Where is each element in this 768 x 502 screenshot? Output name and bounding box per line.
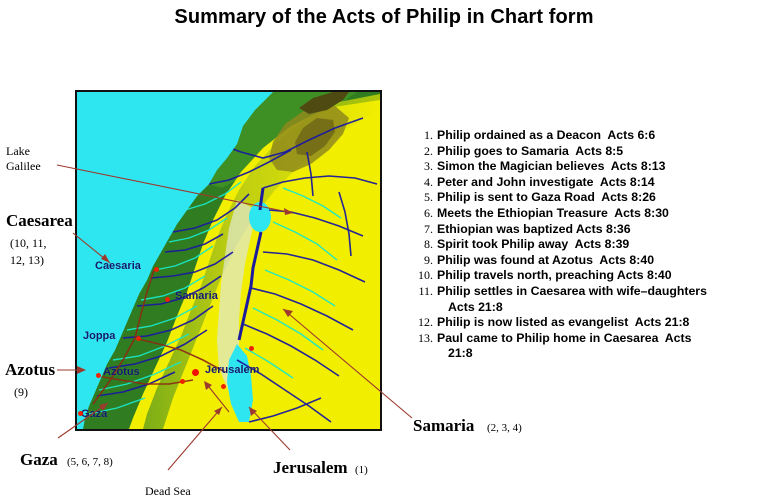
caesarea-dot (154, 267, 159, 272)
annotation-caesarea-refs2: 12, 13) (10, 253, 44, 268)
list-item-text: Simon the Magician believes Acts 8:13 (437, 159, 665, 175)
list-item: 4.Peter and John investigate Acts 8:14 (412, 175, 762, 191)
annotation-caesarea-refs: (10, 11, (10, 236, 47, 251)
annotation-azotus-refs: (9) (14, 385, 28, 400)
map-label-samaria: Samaria (175, 290, 218, 302)
annotation-caesarea-name: Caesarea (6, 211, 73, 231)
list-item: 8.Spirit took Philip away Acts 8:39 (412, 237, 762, 253)
list-item: 1.Philip ordained as a Deacon Acts 6:6 (412, 128, 762, 144)
list-item: 3.Simon the Magician believes Acts 8:13 (412, 159, 762, 175)
list-item-text: Meets the Ethiopian Treasure Acts 8:30 (437, 206, 669, 222)
list-item-text: Ethiopian was baptized Acts 8:36 (437, 222, 631, 238)
list-item-number: 6. (412, 206, 437, 222)
list-item: 12.Philip is now listed as evangelist Ac… (412, 315, 762, 331)
jerusalem-dot (192, 369, 199, 376)
unnamed-city-dot-2 (180, 379, 185, 384)
joppa-dot (136, 336, 141, 341)
list-item-number: 7. (412, 222, 437, 238)
list-item-continuation: Acts 21:8 (412, 300, 762, 316)
list-item-text: Spirit took Philip away Acts 8:39 (437, 237, 629, 253)
list-item-text: Philip was found at Azotus Acts 8:40 (437, 253, 654, 269)
map-figure: Caesaria Joppa Azotus Gaza Samaria Jerus… (75, 90, 382, 431)
annotation-dead-sea-name: Dead Sea (145, 484, 191, 499)
list-item-text: Philip ordained as a Deacon Acts 6:6 (437, 128, 655, 144)
list-item-text: Philip travels north, preaching Acts 8:4… (437, 268, 672, 284)
list-item-text: Peter and John investigate Acts 8:14 (437, 175, 655, 191)
list-item-text: Philip goes to Samaria Acts 8:5 (437, 144, 623, 160)
annotation-jerusalem-name: Jerusalem (273, 458, 348, 478)
annotation-jerusalem-refs: (1) (355, 464, 368, 476)
list-item-number: 2. (412, 144, 437, 160)
list-item-text: Philip settles in Caesarea with wife–dau… (437, 284, 707, 300)
list-item: 6.Meets the Ethiopian Treasure Acts 8:30 (412, 206, 762, 222)
map-label-gaza: Gaza (81, 408, 107, 420)
list-item-continuation: 21:8 (412, 346, 762, 362)
unnamed-city-dot-3 (221, 384, 226, 389)
map-label-jerusalem: Jerusalem (205, 364, 259, 376)
gaza-dot (78, 411, 83, 416)
list-item-number: 9. (412, 253, 437, 269)
list-item: 13.Paul came to Philip home in Caesarea … (412, 331, 762, 347)
list-item-text: Philip is now listed as evangelist Acts … (437, 315, 689, 331)
list-item-number: 11. (412, 284, 437, 300)
list-item: 9.Philip was found at Azotus Acts 8:40 (412, 253, 762, 269)
map-label-azotus: Azotus (103, 366, 140, 378)
list-item-number: 12. (412, 315, 437, 331)
list-item: 11.Philip settles in Caesarea with wife–… (412, 284, 762, 300)
list-item-number: 13. (412, 331, 437, 347)
list-item-number: 5. (412, 190, 437, 206)
list-item-text: Paul came to Philip home in Caesarea Act… (437, 331, 691, 347)
list-item: 7.Ethiopian was baptized Acts 8:36 (412, 222, 762, 238)
acts-of-philip-list: 1.Philip ordained as a Deacon Acts 6:6 2… (412, 128, 762, 362)
list-item-number: 4. (412, 175, 437, 191)
annotation-azotus-name: Azotus (5, 360, 55, 380)
list-item-number: 8. (412, 237, 437, 253)
unnamed-city-dot-1 (249, 346, 254, 351)
annotation-samaria-refs: (2, 3, 4) (487, 422, 522, 434)
annotation-gaza-refs: (5, 6, 7, 8) (67, 456, 113, 468)
list-item-number: 1. (412, 128, 437, 144)
map-label-joppa: Joppa (83, 330, 115, 342)
annotation-gaza-name: Gaza (20, 450, 58, 470)
list-item-number: 3. (412, 159, 437, 175)
list-item-text: Philip is sent to Gaza Road Acts 8:26 (437, 190, 656, 206)
list-item: 10.Philip travels north, preaching Acts … (412, 268, 762, 284)
annotation-lake-galilee-line2: Galilee (6, 159, 41, 174)
annotation-samaria-name: Samaria (413, 416, 474, 436)
list-item: 2.Philip goes to Samaria Acts 8:5 (412, 144, 762, 160)
annotation-lake-galilee-line1: Lake (6, 144, 30, 159)
samaria-dot (165, 297, 170, 302)
list-item: 5.Philip is sent to Gaza Road Acts 8:26 (412, 190, 762, 206)
azotus-dot (96, 373, 101, 378)
map-label-caesaria: Caesaria (95, 260, 141, 272)
page-title: Summary of the Acts of Philip in Chart f… (0, 6, 768, 29)
list-item-number: 10. (412, 268, 437, 284)
